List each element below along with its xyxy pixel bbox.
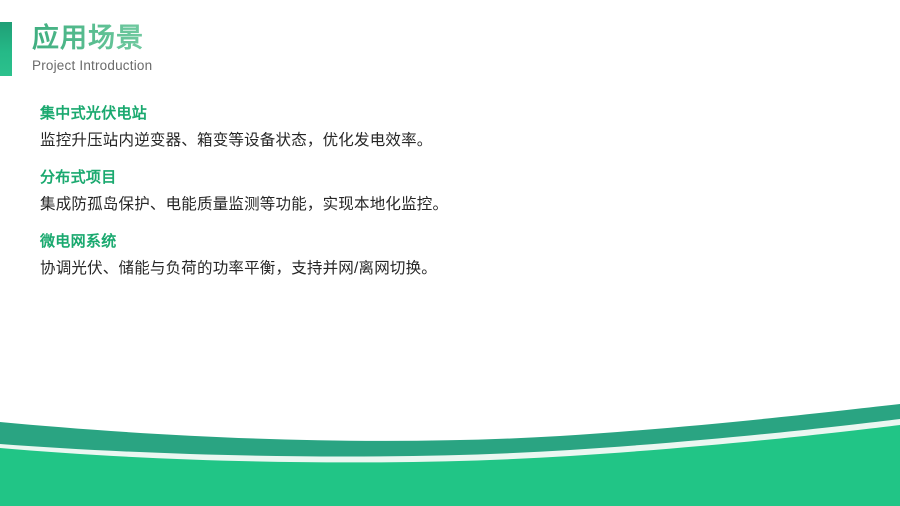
section-heading: 微电网系统 <box>40 231 820 252</box>
slide-canvas: 应用场景 Project Introduction 集中式光伏电站 监控升压站内… <box>0 0 900 506</box>
wave-back-shape <box>0 404 900 506</box>
content-section: 微电网系统 协调光伏、储能与负荷的功率平衡，支持并网/离网切换。 <box>40 231 820 280</box>
section-body: 监控升压站内逆变器、箱变等设备状态，优化发电效率。 <box>40 130 820 152</box>
section-body: 集成防孤岛保护、电能质量监测等功能，实现本地化监控。 <box>40 194 820 216</box>
content-section: 分布式项目 集成防孤岛保护、电能质量监测等功能，实现本地化监控。 <box>40 167 820 216</box>
header-accent-bar <box>0 22 12 76</box>
content-list: 集中式光伏电站 监控升压站内逆变器、箱变等设备状态，优化发电效率。 分布式项目 … <box>40 103 820 280</box>
section-body: 协调光伏、储能与负荷的功率平衡，支持并网/离网切换。 <box>40 258 820 280</box>
wave-highlight-shape <box>0 419 900 465</box>
content-section: 集中式光伏电站 监控升压站内逆变器、箱变等设备状态，优化发电效率。 <box>40 103 820 152</box>
page-title: 应用场景 <box>32 22 152 54</box>
section-heading: 分布式项目 <box>40 167 820 188</box>
bottom-wave-decoration <box>0 386 900 506</box>
page-subtitle: Project Introduction <box>32 57 152 75</box>
wave-front-shape <box>0 425 900 506</box>
header-text-group: 应用场景 Project Introduction <box>32 22 152 76</box>
section-heading: 集中式光伏电站 <box>40 103 820 124</box>
slide-header: 应用场景 Project Introduction <box>0 22 152 76</box>
